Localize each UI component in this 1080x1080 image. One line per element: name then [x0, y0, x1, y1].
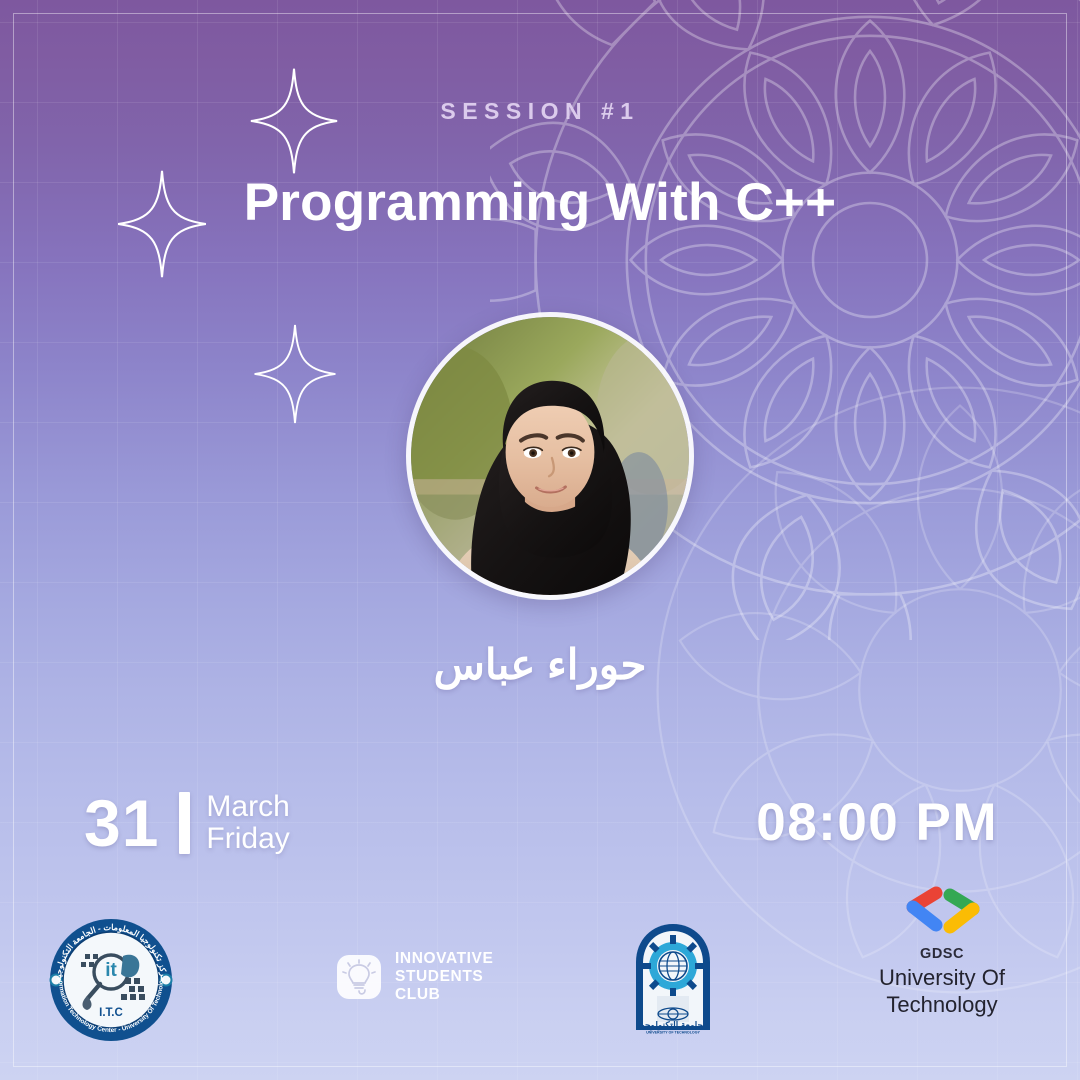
- event-time: 08:00 PM: [756, 792, 998, 853]
- date-month: March: [206, 791, 289, 823]
- date-divider: [179, 792, 190, 854]
- itc-logo: مركز تكنولوجيا المعلومات - الجامعة التكن…: [47, 916, 175, 1044]
- event-poster: SESSION #1 Programming With C++: [0, 0, 1080, 1080]
- gdsc-logo: GDSC University Of Technology: [828, 885, 1056, 1018]
- date-text-group: March Friday: [206, 791, 289, 856]
- speaker-portrait: [411, 317, 689, 595]
- gdsc-title: GDSC: [828, 947, 1056, 963]
- isc-line-3: CLUB: [395, 986, 493, 1004]
- footer-logos: مركز تكنولوجيا المعلومات - الجامعة التكن…: [0, 916, 1080, 1056]
- svg-text:it: it: [105, 960, 117, 981]
- gdsc-subtitle: University Of Technology: [828, 965, 1056, 1018]
- date-weekday: Friday: [206, 823, 289, 855]
- university-of-technology-logo: الجامعة التكنولوجية UNIVERSITY OF TECHNO…: [628, 918, 718, 1034]
- page-title: Programming With C++: [0, 172, 1080, 233]
- gdsc-chevrons-icon: [896, 885, 988, 941]
- session-label: SESSION #1: [0, 98, 1080, 125]
- event-date: 31 March Friday: [84, 784, 290, 862]
- svg-text:UNIVERSITY OF TECHNOLOGY: UNIVERSITY OF TECHNOLOGY: [646, 1031, 700, 1035]
- svg-text:الجامعة التكنولوجية: الجامعة التكنولوجية: [637, 1020, 708, 1031]
- speaker-name: حوراء عباس: [0, 640, 1080, 689]
- isc-line-2: STUDENTS: [395, 968, 493, 986]
- svg-text:I.T.C: I.T.C: [99, 1007, 123, 1019]
- isc-text-group: INNOVATIVE STUDENTS CLUB: [395, 950, 493, 1004]
- date-day: 31: [84, 790, 159, 856]
- four-point-sparkle-icon: [252, 322, 338, 426]
- isc-line-1: INNOVATIVE: [395, 950, 493, 968]
- avatar: [406, 312, 694, 600]
- lightbulb-icon: [336, 954, 382, 1000]
- innovative-students-club-logo: INNOVATIVE STUDENTS CLUB: [336, 950, 493, 1004]
